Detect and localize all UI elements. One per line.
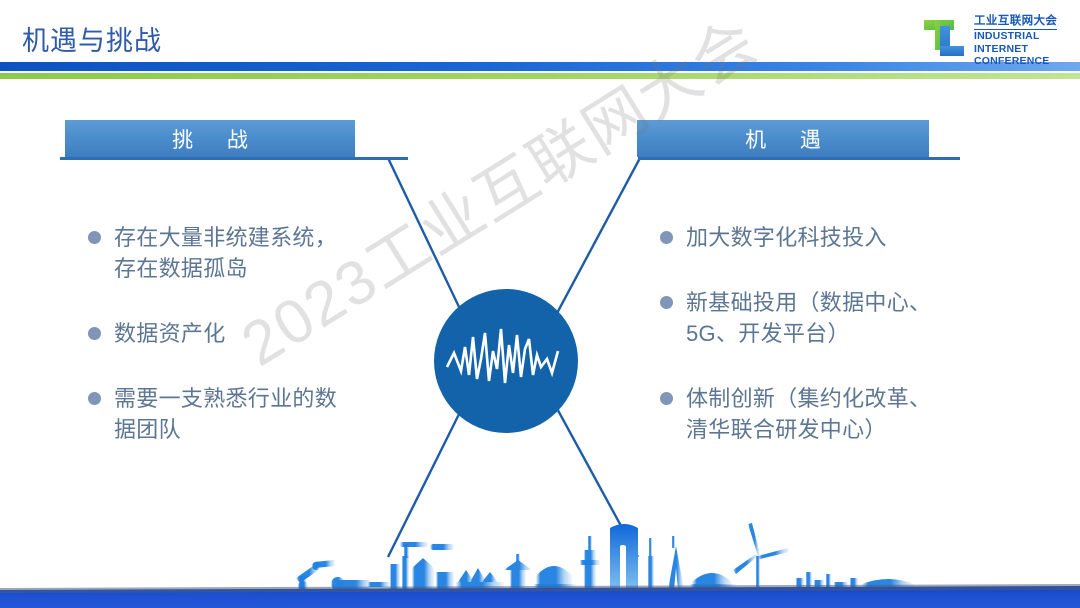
list-item-label: 数据资产化 — [114, 318, 226, 349]
list-item: 数据资产化 — [88, 318, 418, 349]
bullet-dot-icon — [660, 392, 673, 405]
list-item: 体制创新（集约化改革、清华联合研发中心） — [660, 383, 1005, 445]
list-item-label: 体制创新（集约化改革、清华联合研发中心） — [686, 383, 931, 445]
column-heading-challenge: 挑 战 — [65, 120, 355, 157]
bullet-dot-icon — [660, 296, 673, 309]
city-skyline-illustration — [0, 498, 1080, 608]
center-data-node — [434, 289, 578, 433]
list-item: 存在大量非统建系统，存在数据孤岛 — [88, 222, 418, 284]
list-item: 加大数字化科技投入 — [660, 222, 1005, 253]
challenge-list: 存在大量非统建系统，存在数据孤岛 数据资产化 需要一支熟悉行业的数据团队 — [88, 222, 418, 479]
data-waveform-icon — [434, 289, 578, 433]
bullet-dot-icon — [88, 392, 101, 405]
column-underline-opportunity — [638, 157, 960, 160]
bullet-dot-icon — [88, 327, 101, 340]
list-item: 新基础投用（数据中心、5G、开发平台） — [660, 287, 1005, 349]
slide-canvas: 机遇与挑战 工业互联网大会 INDUSTRIAL INTE — [0, 0, 1080, 608]
list-item-label: 加大数字化科技投入 — [686, 222, 887, 253]
list-item-label: 存在大量非统建系统，存在数据孤岛 — [114, 222, 337, 284]
list-item-label: 新基础投用（数据中心、5G、开发平台） — [686, 287, 931, 349]
bullet-dot-icon — [88, 231, 101, 244]
column-heading-opportunity: 机 遇 — [637, 120, 929, 157]
bullet-dot-icon — [660, 231, 673, 244]
opportunity-list: 加大数字化科技投入 新基础投用（数据中心、5G、开发平台） 体制创新（集约化改革… — [660, 222, 1005, 479]
list-item-label: 需要一支熟悉行业的数据团队 — [114, 383, 337, 445]
column-underline-challenge — [60, 157, 408, 160]
list-item: 需要一支熟悉行业的数据团队 — [88, 383, 418, 445]
